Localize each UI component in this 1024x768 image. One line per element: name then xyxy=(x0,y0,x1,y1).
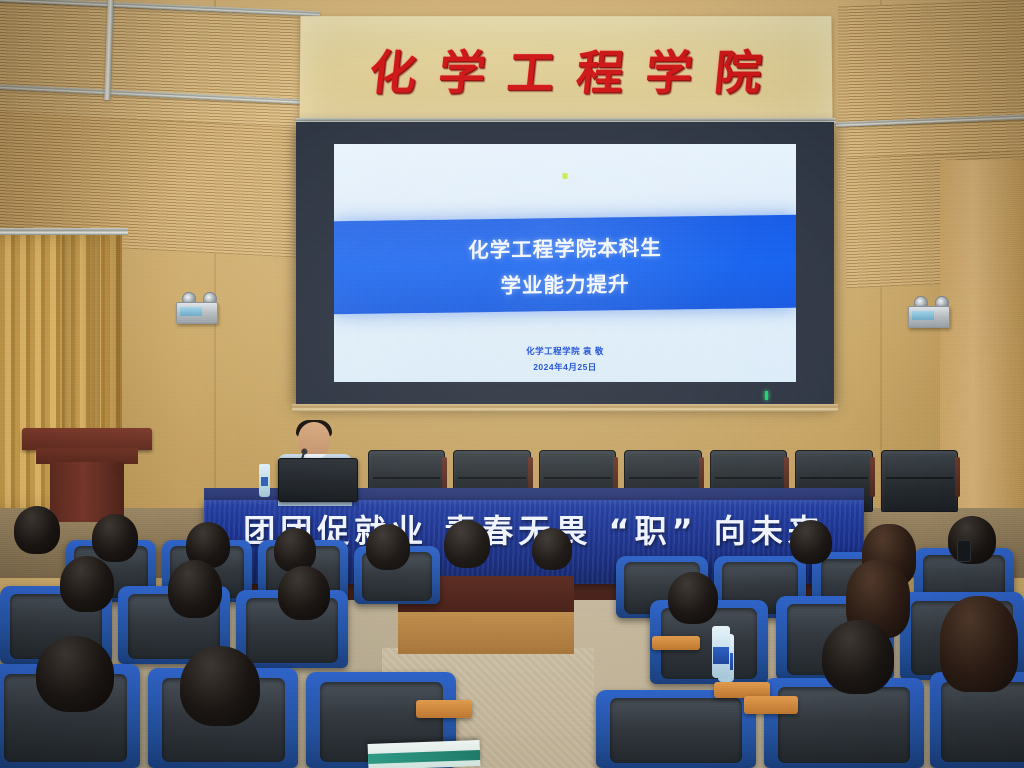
slide-footer-block: 化学工程学院 袁 敬 2024年4月25日 xyxy=(334,345,796,373)
audience-head xyxy=(60,556,114,612)
seat-writing-tablet xyxy=(652,636,700,650)
slide-title-block: 化学工程学院本科生 学业能力提升 xyxy=(334,216,796,315)
projection-screen-bezel: 化学工程学院本科生 学业能力提升 化学工程学院 袁 敬 2024年4月25日 xyxy=(296,122,834,404)
audience-seat xyxy=(596,690,756,768)
audience-head xyxy=(180,646,260,726)
stage-riser-face xyxy=(398,612,574,654)
audience-head xyxy=(790,520,832,564)
audience-head xyxy=(14,506,60,554)
emergency-light-icon xyxy=(176,302,218,324)
seat-writing-tablet xyxy=(416,700,472,718)
curtain-rod xyxy=(0,228,128,235)
smartphone xyxy=(957,540,971,562)
emergency-light-body xyxy=(908,306,950,328)
podium-column xyxy=(50,462,124,522)
projection-screen-surface: 化学工程学院本科生 学业能力提升 化学工程学院 袁 敬 2024年4月25日 xyxy=(334,144,796,382)
presentation-slide: 化学工程学院本科生 学业能力提升 化学工程学院 袁 敬 2024年4月25日 xyxy=(334,144,796,382)
water-bottle xyxy=(712,626,730,678)
audience-head xyxy=(822,620,894,694)
auditorium-photo: 化学工程学院 化学工程学院本科生 学业能力提升 化学工程学院 袁 敬 2024年… xyxy=(0,0,1024,768)
stage-chair xyxy=(881,450,958,512)
slide-presenter: 化学工程学院 袁 敬 xyxy=(526,345,604,357)
audience-head xyxy=(168,560,222,618)
chair-arm xyxy=(870,457,875,497)
audience-head xyxy=(948,516,996,564)
screen-lower-trim xyxy=(292,404,838,412)
slide-title-line-1: 化学工程学院本科生 xyxy=(468,231,662,264)
seat-cushion xyxy=(610,698,741,764)
seat-writing-tablet xyxy=(744,696,798,714)
slide-bullet-marker xyxy=(563,173,568,179)
department-sign-panel: 化学工程学院 xyxy=(299,16,832,123)
water-bottle xyxy=(259,464,270,497)
slide-upper-band xyxy=(334,144,796,220)
audience-head xyxy=(278,566,330,620)
audience-head xyxy=(366,524,410,570)
emergency-light-icon xyxy=(908,306,950,328)
audience-head xyxy=(92,514,138,562)
seat-cushion xyxy=(778,687,909,763)
audience-head xyxy=(36,636,114,712)
audience-head xyxy=(668,572,718,624)
department-sign-text: 化学工程学院 xyxy=(344,34,787,103)
handout-booklet xyxy=(368,740,481,768)
laptop-computer xyxy=(278,458,358,502)
audience-head xyxy=(444,520,490,568)
audience-head xyxy=(940,596,1018,692)
audience-head xyxy=(274,528,316,572)
slide-title-line-2: 学业能力提升 xyxy=(501,267,630,299)
seat-cushion xyxy=(941,682,1024,763)
chair-arm xyxy=(955,457,960,497)
power-led-indicator xyxy=(765,391,768,400)
podium-top xyxy=(22,428,152,450)
slide-date: 2024年4月25日 xyxy=(533,361,597,373)
audience-head xyxy=(532,528,572,570)
emergency-light-body xyxy=(176,302,218,324)
